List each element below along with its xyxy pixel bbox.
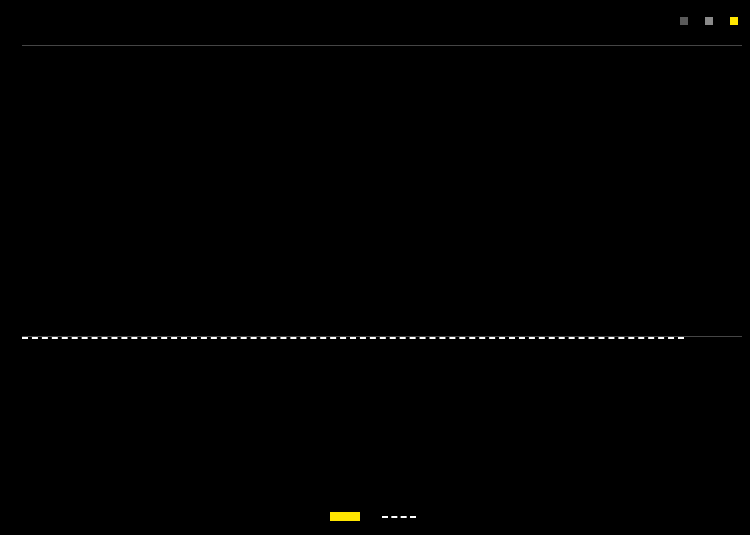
- legend-item-close: [730, 17, 742, 25]
- dashboard-root: [0, 0, 750, 535]
- legend-swatch-high: [680, 17, 688, 25]
- top-chart-legend: [680, 17, 742, 25]
- legend-swatch-pct-of-atr: [330, 512, 360, 521]
- legend-swatch-low: [705, 17, 713, 25]
- candle-chart-plot-area: [22, 46, 684, 206]
- legend-item-atr: [382, 516, 420, 518]
- legend-item-high: [680, 17, 692, 25]
- legend-item-low: [705, 17, 717, 25]
- legend-item-pct-of-atr: [330, 512, 364, 521]
- legend-swatch-atr: [382, 516, 416, 518]
- candle-chart-x-axis: [22, 236, 684, 310]
- atr-chart-plot-area: [22, 337, 684, 437]
- atr-chart-y-axis: [690, 337, 748, 437]
- atr-chart-x-axis: [22, 441, 684, 511]
- atr-chart-legend: [0, 512, 750, 521]
- atr-bar-series: [22, 337, 684, 437]
- header: [0, 0, 750, 46]
- atr-reference-line: [22, 337, 684, 339]
- legend-swatch-close: [730, 17, 738, 25]
- candle-chart-y-axis: [690, 46, 748, 206]
- candle-series: [22, 46, 684, 206]
